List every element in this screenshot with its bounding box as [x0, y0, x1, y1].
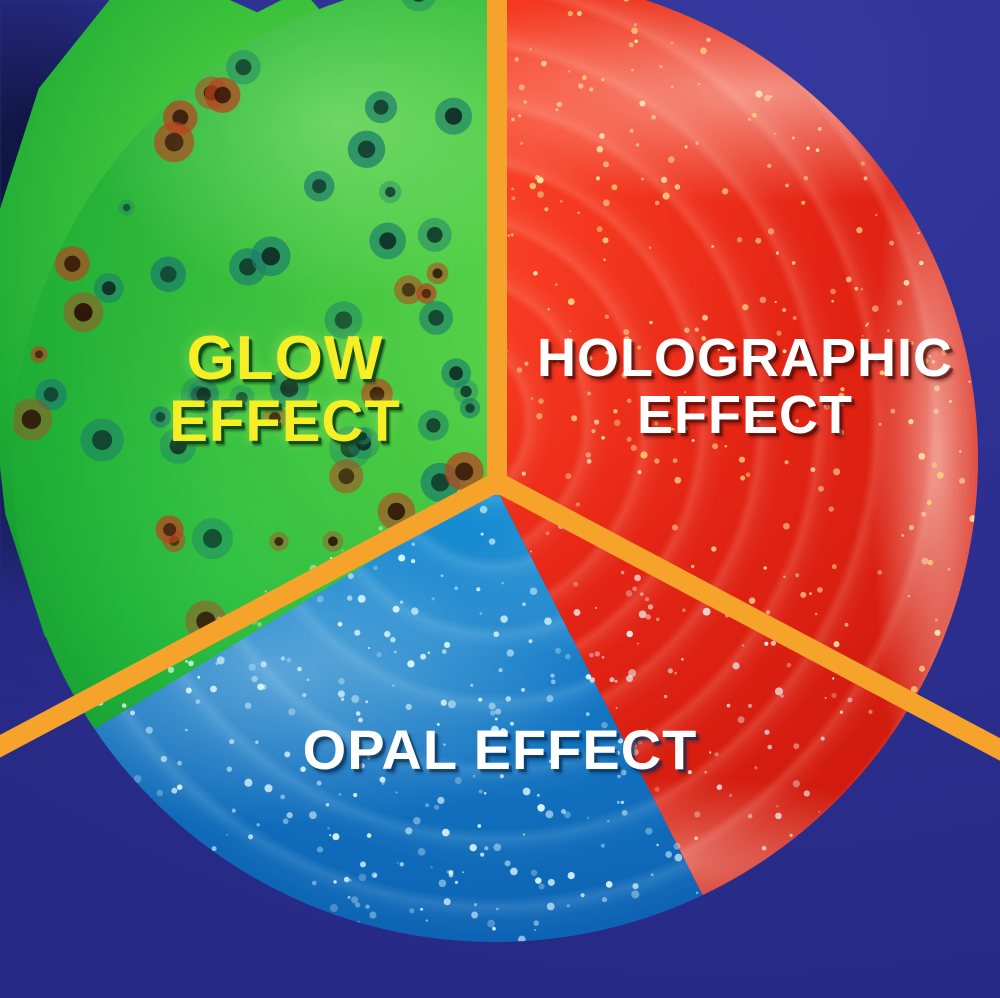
holographic-effect-label-line1: HOLOGRAPHIC [537, 328, 953, 388]
glow-effect-label-line2: EFFECT [120, 392, 450, 451]
opal-effect-label: OPAL EFFECT [280, 721, 720, 778]
slime-effects-collage: GLOW EFFECT HOLOGRAPHIC EFFECT OPAL EFFE… [0, 0, 1000, 998]
glow-effect-label-line1: GLOW [187, 324, 384, 393]
divider-segment-top [487, 0, 507, 495]
holographic-effect-label: HOLOGRAPHIC EFFECT [520, 331, 970, 443]
holographic-effect-label-line2: EFFECT [520, 388, 970, 443]
glow-effect-label: GLOW EFFECT [120, 327, 450, 451]
opal-effect-label-line1: OPAL EFFECT [303, 718, 698, 781]
